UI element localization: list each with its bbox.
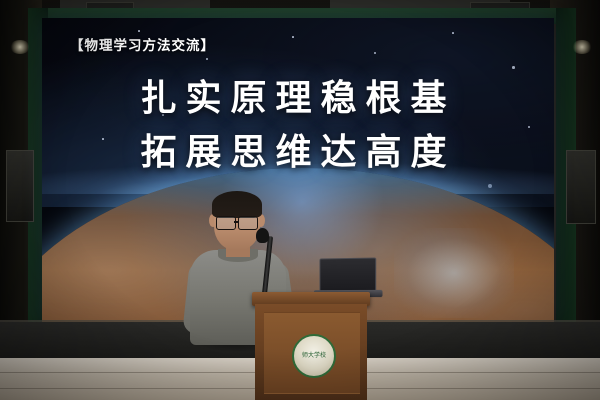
microphone-head-icon (256, 228, 269, 243)
glasses-left-lens (216, 216, 236, 230)
slide-title-line-1: 扎实原理稳根基 (42, 72, 554, 123)
person-hair (212, 191, 262, 218)
slide-kicker: 【物理学习方法交流】 (70, 34, 215, 54)
photo-scene: 【物理学习方法交流】 扎实原理稳根基 拓展思维达高度 师大学校 (0, 0, 600, 400)
ceiling-lamp-left (10, 40, 30, 54)
star (292, 36, 294, 38)
wall-speaker-left (6, 150, 34, 222)
star (512, 66, 515, 69)
star (206, 58, 208, 60)
star (138, 30, 140, 32)
projection-screen: 【物理学习方法交流】 扎实原理稳根基 拓展思维达高度 (42, 18, 554, 323)
wall-speaker-right (566, 150, 596, 224)
glasses-bridge (234, 221, 239, 223)
slide-title-line-2: 拓展思维达高度 (42, 126, 554, 177)
ceiling-lamp-right (572, 40, 592, 54)
star (374, 52, 376, 54)
school-emblem: 师大学校 (292, 334, 336, 378)
star (452, 32, 454, 34)
glasses-right-lens (238, 216, 258, 230)
sun-glow (394, 228, 514, 318)
school-emblem-text: 师大学校 (302, 353, 326, 360)
